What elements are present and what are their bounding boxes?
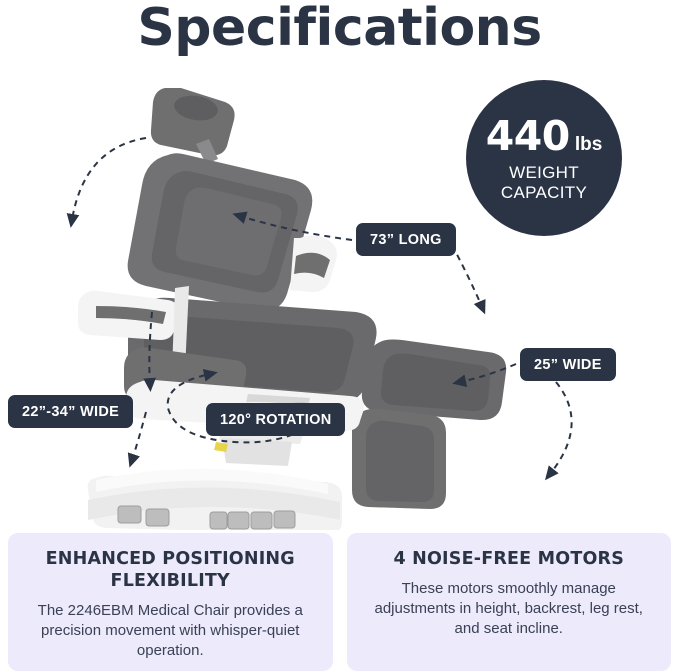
badge-unit: lbs bbox=[575, 135, 602, 154]
feature-card-title: 4 NOISE-FREE MOTORS bbox=[361, 549, 658, 571]
badge-line-2: CAPACITY bbox=[501, 184, 587, 201]
specifications-page: Specifications bbox=[0, 0, 679, 671]
chair-illustration: 440 lbs WEIGHT CAPACITY 73” LONG 25” WID… bbox=[0, 60, 679, 530]
feature-card-body: These motors smoothly manage adjustments… bbox=[361, 579, 658, 639]
chair-graphic bbox=[78, 88, 506, 530]
feature-card-positioning: ENHANCED POSITIONING FLEXIBILITY The 224… bbox=[8, 533, 333, 671]
callout-seat-width: 25” WIDE bbox=[520, 348, 616, 381]
badge-value: 440 bbox=[486, 116, 570, 157]
callout-length: 73” LONG bbox=[356, 223, 456, 256]
callout-base-width: 22”-34” WIDE bbox=[8, 395, 133, 428]
badge-line-1: WEIGHT bbox=[509, 164, 579, 181]
feature-cards: ENHANCED POSITIONING FLEXIBILITY The 224… bbox=[0, 533, 679, 671]
weight-capacity-badge: 440 lbs WEIGHT CAPACITY bbox=[466, 80, 622, 236]
feature-card-title: ENHANCED POSITIONING FLEXIBILITY bbox=[22, 549, 319, 593]
page-title: Specifications bbox=[0, 0, 679, 58]
callout-rotation: 120° ROTATION bbox=[206, 403, 345, 436]
badge-value-row: 440 lbs bbox=[486, 116, 603, 157]
feature-card-body: The 2246EBM Medical Chair provides a pre… bbox=[22, 601, 319, 661]
feature-card-motors: 4 NOISE-FREE MOTORS These motors smoothl… bbox=[347, 533, 672, 671]
